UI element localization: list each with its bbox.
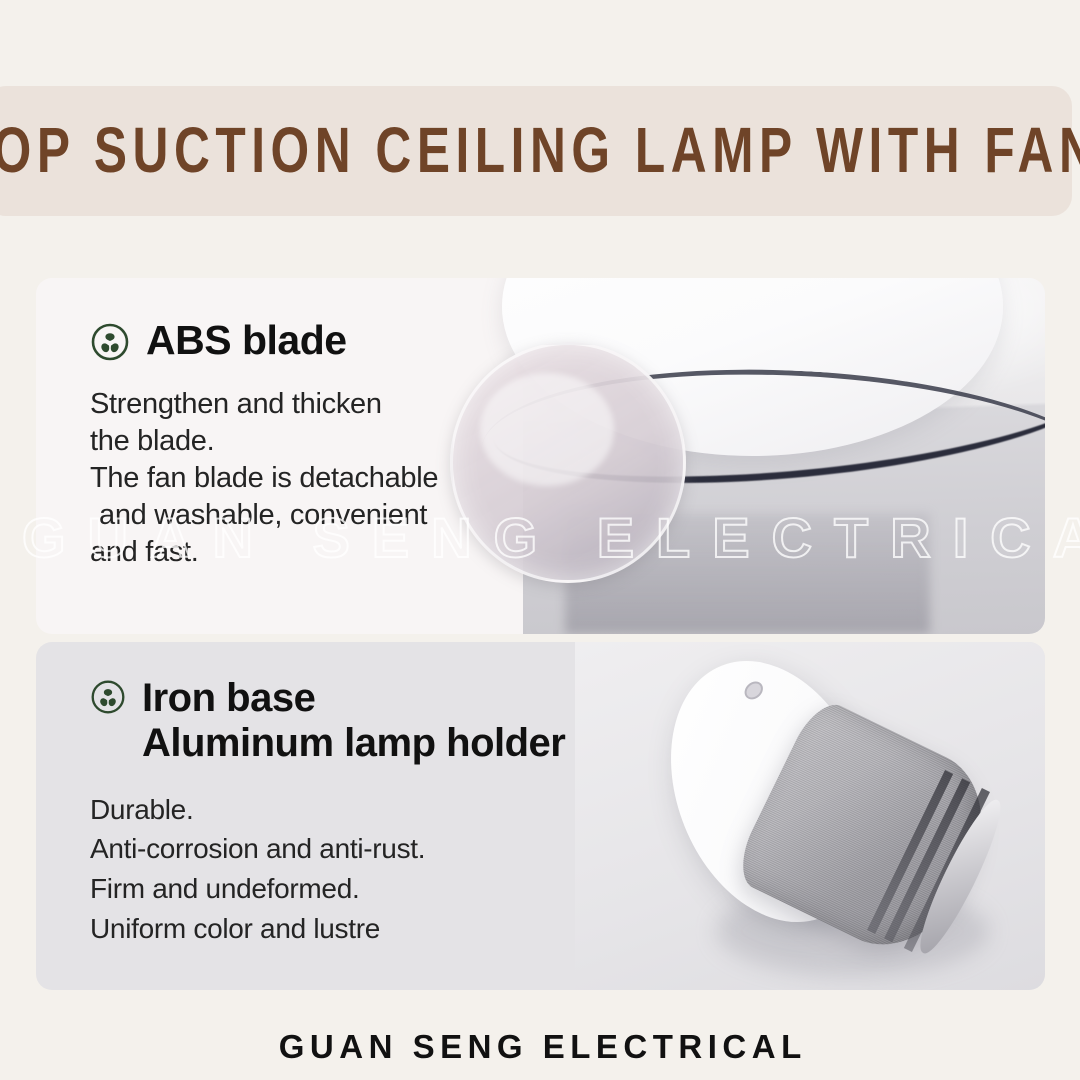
- card-body-text: Strengthen and thicken the blade. The fa…: [90, 386, 560, 572]
- card-body-line: and washable, convenient: [90, 497, 560, 534]
- card-body-line: and fast.: [90, 534, 560, 571]
- base-screw-shape: [742, 678, 768, 703]
- card-text-block: ABS blade Strengthen and thicken the bla…: [90, 318, 560, 571]
- card-heading-line: Aluminum lamp holder: [142, 721, 565, 766]
- feature-card-abs-blade: ABS blade Strengthen and thicken the bla…: [36, 278, 1045, 634]
- card-body-line: Firm and undeformed.: [90, 869, 730, 909]
- card-heading-line: ABS blade: [146, 318, 347, 364]
- fan-icon: [90, 679, 126, 715]
- fan-icon: [90, 322, 130, 362]
- card-heading: ABS blade: [146, 318, 347, 364]
- card-body-line: Anti-corrosion and anti-rust.: [90, 829, 730, 869]
- card-text-block: Iron base Aluminum lamp holder Durable. …: [90, 676, 730, 949]
- feature-card-iron-base: Iron base Aluminum lamp holder Durable. …: [36, 642, 1045, 990]
- product-photo-fan-blade: [523, 278, 1045, 634]
- page-title: TOP SUCTION CEILING LAMP WITH FAN: [0, 119, 1080, 183]
- card-heading: Iron base Aluminum lamp holder: [142, 676, 565, 766]
- card-body-line: Durable.: [90, 790, 730, 830]
- card-body-line: The fan blade is detachable: [90, 460, 560, 497]
- card-body-text: Durable. Anti-corrosion and anti-rust. F…: [90, 790, 730, 949]
- card-body-line: Uniform color and lustre: [90, 909, 730, 949]
- card-heading-row: ABS blade: [90, 318, 560, 364]
- title-banner: TOP SUCTION CEILING LAMP WITH FAN: [0, 86, 1072, 216]
- card-heading-line: Iron base: [142, 676, 565, 721]
- card-body-line: the blade.: [90, 423, 560, 460]
- card-body-line: Strengthen and thicken: [90, 386, 560, 423]
- footer-brand: GUAN SENG ELECTRICAL: [0, 1028, 1080, 1066]
- card-heading-row: Iron base Aluminum lamp holder: [90, 676, 730, 766]
